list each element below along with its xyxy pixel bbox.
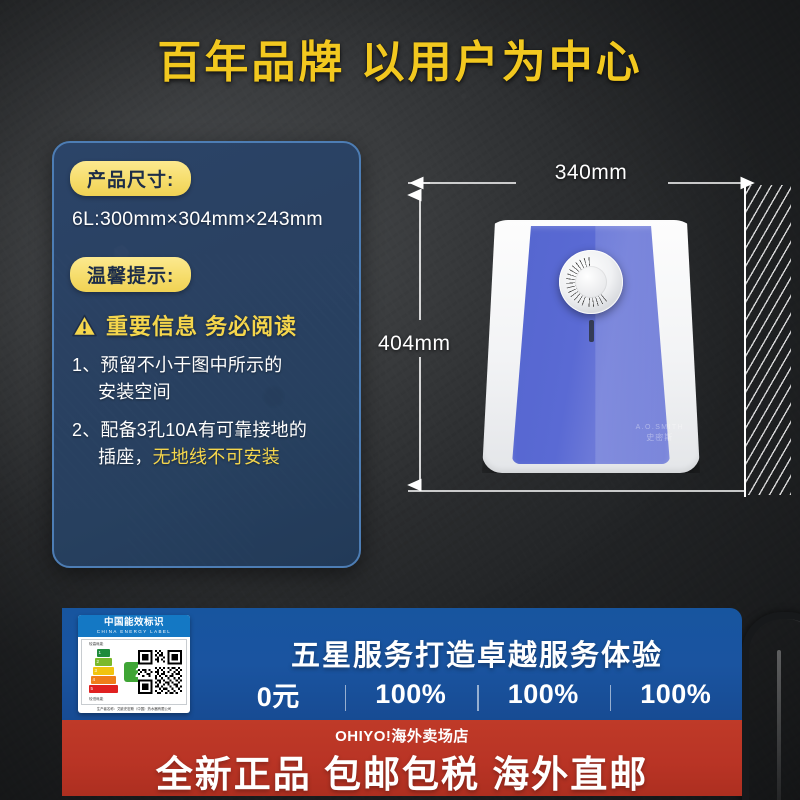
- energy-label-body: 较高耗能 较低耗能 1 2 3 4 5 2: [81, 639, 187, 705]
- note-1-line-2: 安装空间: [72, 379, 343, 406]
- energy-label-title-cn: 中国能效标识: [78, 617, 190, 628]
- dimension-diagram: 340mm 404mm A.O.SMITH 史密斯: [390, 165, 790, 525]
- metal-pipe-highlight: [777, 650, 781, 800]
- height-dimension-label: 404mm: [378, 332, 451, 356]
- service-stat-3: 100%: [477, 679, 610, 710]
- note-2-prefix: 插座，: [98, 447, 153, 467]
- size-pill-label: 产品尺寸:: [70, 161, 191, 196]
- energy-label-footer: 生产者名称：艾欧史密斯（中国）热水器有限公司: [78, 706, 190, 711]
- service-stats-row: 0元 100% 100% 100%: [212, 674, 742, 714]
- size-value-text: 6L:300mm×304mm×243mm: [72, 208, 343, 231]
- install-note-2: 2、配备3孔10A有可靠接地的 插座，无地线不可安装: [72, 417, 343, 471]
- brand-name-en: A.O.SMITH: [636, 424, 684, 433]
- note-2-line-1: 2、配备3孔10A有可靠接地的: [72, 417, 343, 444]
- width-dimension-label: 340mm: [521, 161, 661, 185]
- energy-top-label: 较高耗能: [89, 642, 103, 647]
- note-2-line-2: 插座，无地线不可安装: [72, 444, 343, 471]
- china-energy-label: 中国能效标识 CHINA ENERGY LABEL 较高耗能 较低耗能 1 2 …: [78, 615, 190, 713]
- energy-level-2-label: 2: [97, 658, 100, 666]
- product-brand-mark: A.O.SMITH 史密斯: [636, 424, 684, 443]
- energy-level-1: 1: [97, 649, 110, 657]
- tip-pill-label: 温馨提示:: [70, 257, 191, 292]
- energy-grade-pyramid: 1 2 3 4 5: [88, 649, 118, 697]
- water-heater-product-image: A.O.SMITH 史密斯: [482, 220, 700, 473]
- service-stat-4: 100%: [610, 679, 743, 710]
- note-1-line-1: 1、预留不小于图中所示的: [72, 352, 343, 379]
- service-stat-2: 100%: [345, 679, 478, 710]
- warning-triangle-icon: [72, 314, 97, 337]
- shop-promo-banner: OHIYO!海外卖场店 全新正品 包邮包税 海外直邮: [62, 720, 742, 796]
- wall-hatch-icon: [745, 185, 791, 495]
- energy-level-4-label: 4: [93, 676, 96, 684]
- energy-level-1-label: 1: [99, 649, 102, 657]
- dial-knob: [575, 266, 607, 298]
- wall-edge-line: [744, 183, 746, 497]
- energy-level-3-label: 3: [95, 667, 98, 675]
- energy-label-header: 中国能效标识 CHINA ENERGY LABEL: [78, 615, 190, 637]
- note-2-highlight: 无地线不可安装: [153, 447, 280, 467]
- shop-slogan-text: 全新正品 包邮包税 海外直邮: [62, 744, 742, 798]
- page-headline: 百年品牌 以用户为中心: [0, 26, 800, 90]
- product-indicator-slot: [589, 320, 594, 342]
- energy-level-4: 4: [91, 676, 116, 684]
- energy-level-2: 2: [95, 658, 112, 666]
- brand-name-cn: 史密斯: [636, 433, 684, 443]
- install-note-1: 1、预留不小于图中所示的 安装空间: [72, 352, 343, 406]
- service-banner-title: 五星服务打造卓越服务体验: [212, 632, 742, 674]
- energy-bottom-label: 较低耗能: [89, 697, 103, 702]
- promo-image-canvas: 百年品牌 以用户为中心 产品尺寸: 6L:300mm×304mm×243mm 温…: [0, 0, 800, 800]
- service-banner: 中国能效标识 CHINA ENERGY LABEL 较高耗能 较低耗能 1 2 …: [62, 608, 742, 720]
- energy-level-5: 5: [89, 685, 118, 693]
- shop-name-text: OHIYO!海外卖场店: [62, 725, 742, 746]
- metal-pipe-decoration: [742, 612, 800, 800]
- product-info-panel: 产品尺寸: 6L:300mm×304mm×243mm 温馨提示: 重要信息 务必…: [52, 141, 361, 568]
- service-stat-1: 0元: [212, 675, 345, 714]
- energy-label-title-en: CHINA ENERGY LABEL: [78, 628, 190, 635]
- energy-level-3: 3: [93, 667, 114, 675]
- rotary-dial-icon: [559, 250, 623, 314]
- warning-row: 重要信息 务必阅读: [72, 309, 343, 341]
- qr-code-icon: [138, 650, 182, 694]
- warning-title: 重要信息 务必阅读: [106, 309, 297, 341]
- energy-level-5-label: 5: [91, 685, 94, 693]
